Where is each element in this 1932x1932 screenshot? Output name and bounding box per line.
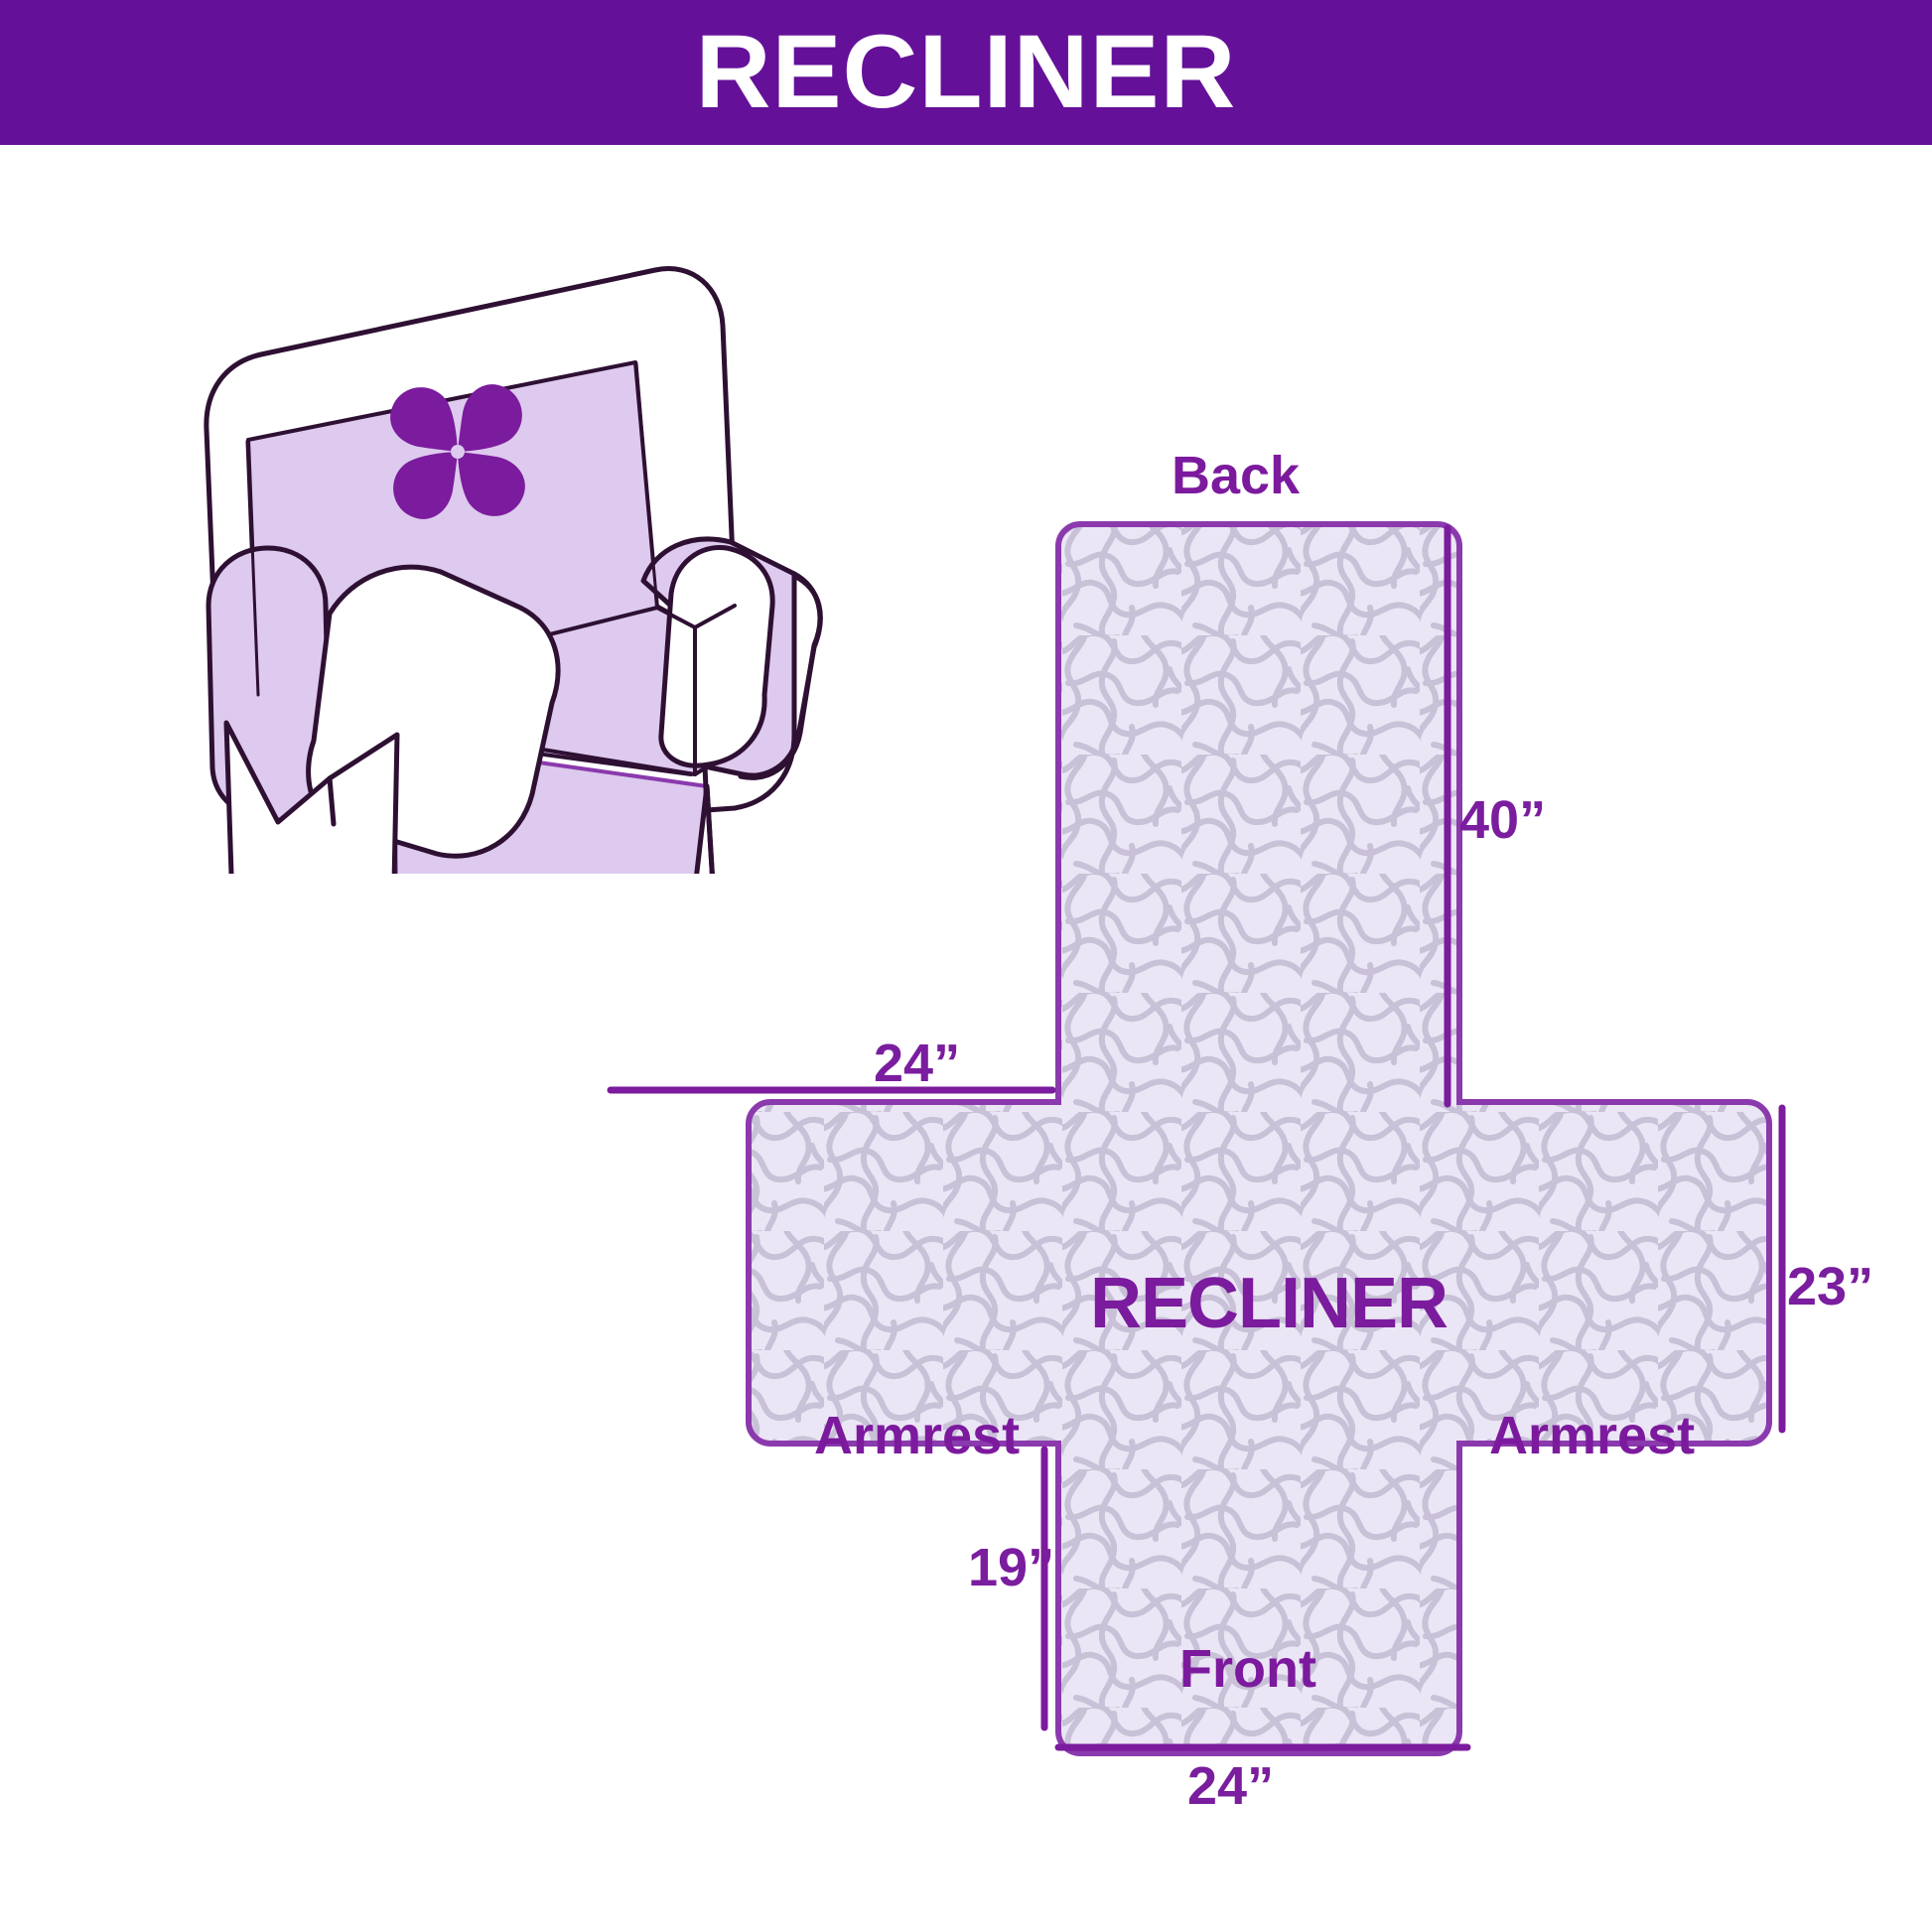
- product-dimension-infographic: RECLINER: [0, 0, 1932, 1932]
- dimension-label-back-height: 40”: [1459, 789, 1546, 851]
- dimension-label-front-height: 19”: [968, 1537, 1054, 1598]
- cover-cross-shape: [749, 524, 1769, 1753]
- dimension-label-back-width: 24”: [874, 1033, 960, 1094]
- panel-label-armrest-right: Armrest: [1489, 1405, 1695, 1466]
- header-banner: RECLINER: [0, 0, 1932, 145]
- panel-label-back: Back: [1172, 445, 1300, 506]
- dimension-label-armrest-height: 23”: [1787, 1256, 1873, 1317]
- page-title: RECLINER: [0, 8, 1932, 137]
- panel-label-front: Front: [1179, 1638, 1316, 1700]
- dimension-label-front-width: 24”: [1187, 1755, 1274, 1817]
- panel-label-armrest-left: Armrest: [814, 1405, 1020, 1466]
- cover-center-label: RECLINER: [1090, 1263, 1448, 1344]
